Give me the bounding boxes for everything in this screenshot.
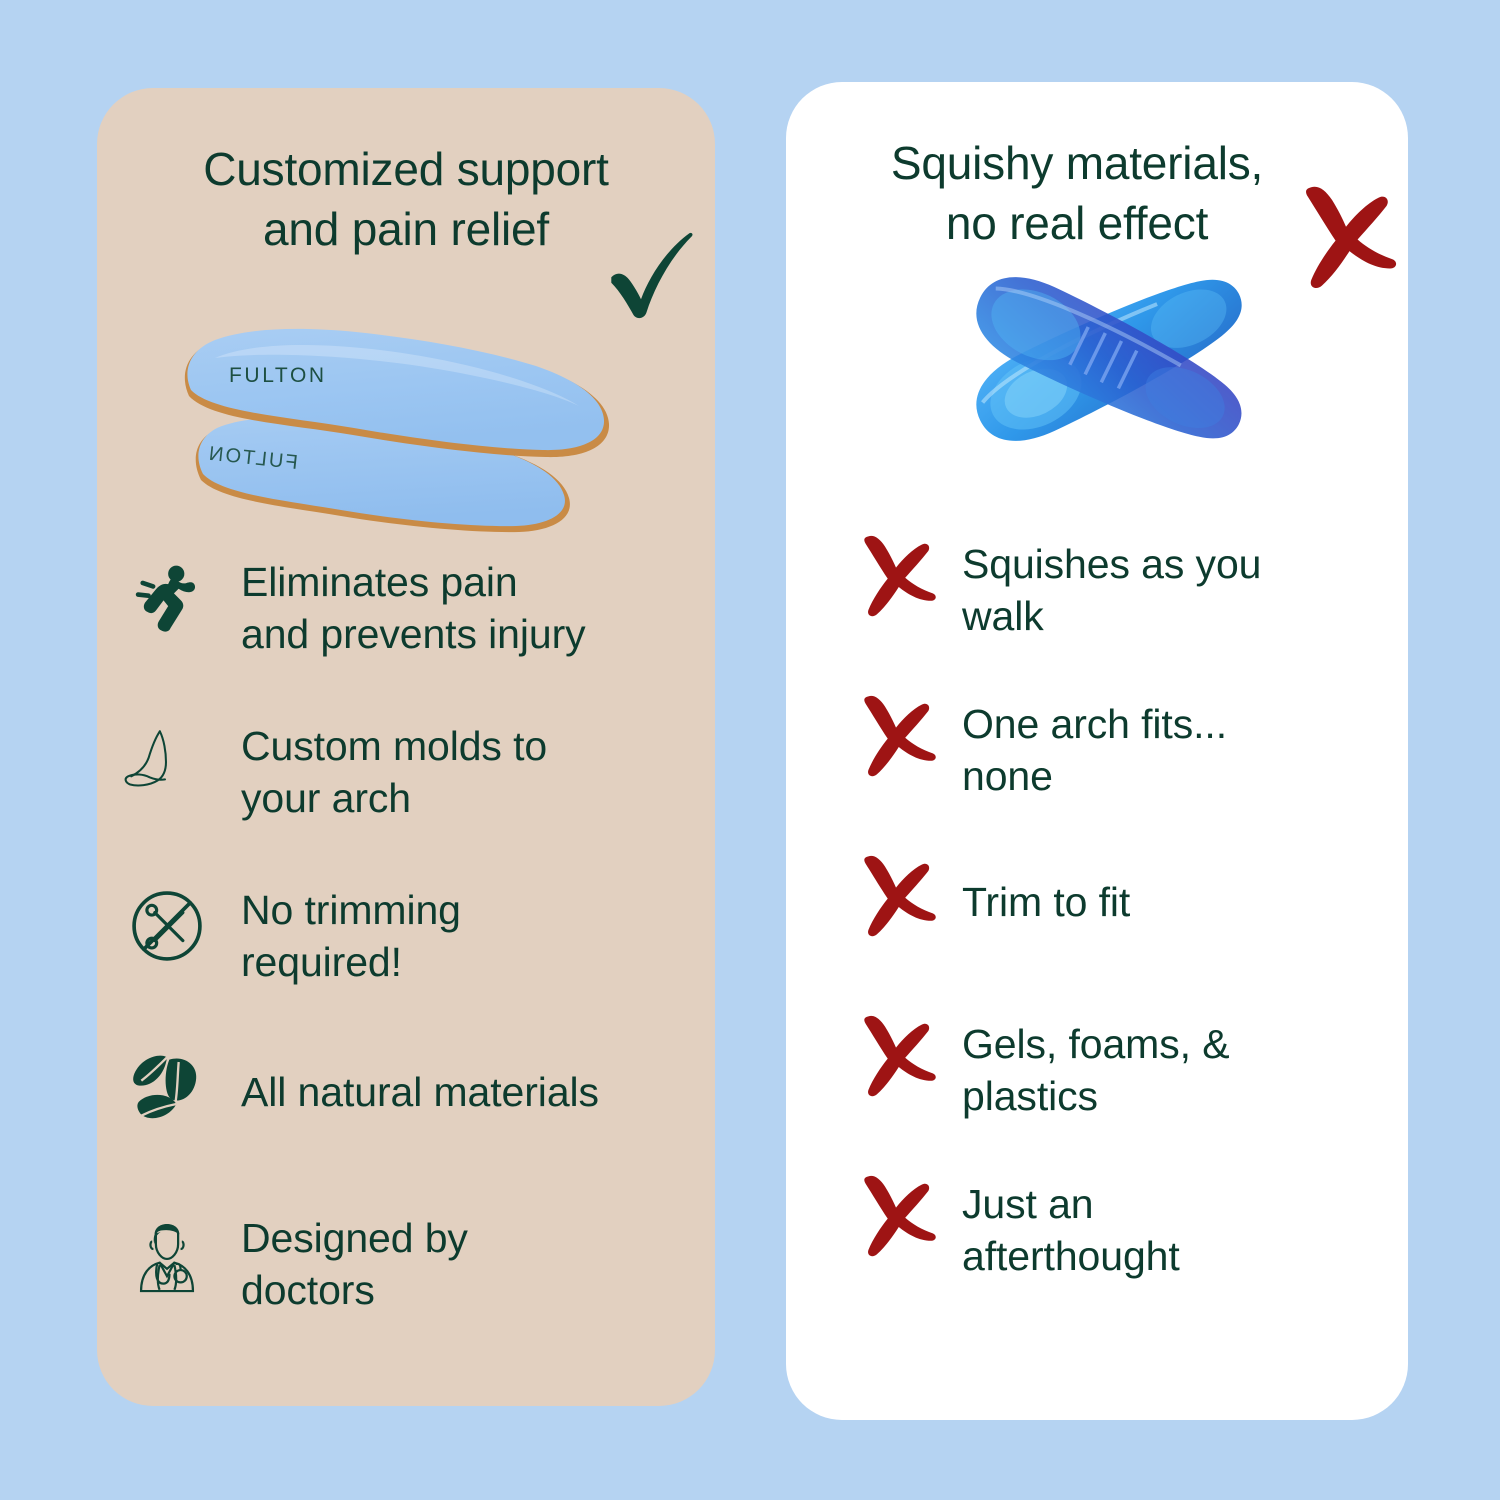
feature-label: Eliminates pain and prevents injury	[241, 550, 586, 660]
cross-mark-icon	[846, 1172, 946, 1258]
feature-row: Just an afterthought	[846, 1172, 1386, 1290]
feature-row: Gels, foams, & plastics	[846, 1012, 1386, 1130]
cross-mark-icon	[846, 852, 946, 938]
feature-label: Gels, foams, & plastics	[962, 1012, 1229, 1122]
feature-label: Trim to fit	[962, 852, 1130, 928]
feature-row: Custom molds to your arch	[119, 714, 699, 836]
feature-label: Just an afterthought	[962, 1172, 1180, 1282]
feature-row: Trim to fit	[846, 852, 1386, 970]
pro-card: Customized support and pain relief	[97, 88, 715, 1406]
feature-row: Squishes as you walk	[846, 532, 1386, 650]
foot-outline-icon	[119, 714, 215, 810]
svg-text:FULTON: FULTON	[229, 364, 327, 387]
cross-mark-icon	[1288, 178, 1404, 294]
pro-card-heading: Customized support and pain relief	[149, 140, 663, 260]
blue-gel-insoles-image	[936, 234, 1276, 484]
feature-row: All natural materials	[119, 1042, 699, 1164]
cross-mark-icon	[846, 1012, 946, 1098]
pro-feature-list: Eliminates pain and prevents injury Cust…	[119, 550, 699, 1370]
feature-label: Designed by doctors	[241, 1206, 468, 1316]
feature-label: No trimming required!	[241, 878, 461, 988]
feature-row: No trimming required!	[119, 878, 699, 1000]
no-scissors-icon	[119, 878, 215, 974]
feature-row: Eliminates pain and prevents injury	[119, 550, 699, 672]
doctor-icon	[119, 1206, 215, 1302]
feature-label: Squishes as you walk	[962, 532, 1261, 642]
feature-label: Custom molds to your arch	[241, 714, 547, 824]
cross-mark-icon	[846, 692, 946, 778]
con-feature-list: Squishes as you walk One arch fits... no…	[846, 532, 1386, 1332]
fulton-insoles-image: FULTON FULTON	[171, 300, 621, 540]
feature-label: One arch fits... none	[962, 692, 1227, 802]
cross-mark-icon	[846, 532, 946, 618]
feature-label: All natural materials	[241, 1042, 599, 1118]
comparison-infographic: Customized support and pain relief	[0, 0, 1500, 1500]
leaves-icon	[119, 1042, 215, 1138]
feature-row: One arch fits... none	[846, 692, 1386, 810]
con-card: Squishy materials, no real effect	[786, 82, 1408, 1420]
running-person-icon	[119, 550, 215, 646]
feature-row: Designed by doctors	[119, 1206, 699, 1328]
